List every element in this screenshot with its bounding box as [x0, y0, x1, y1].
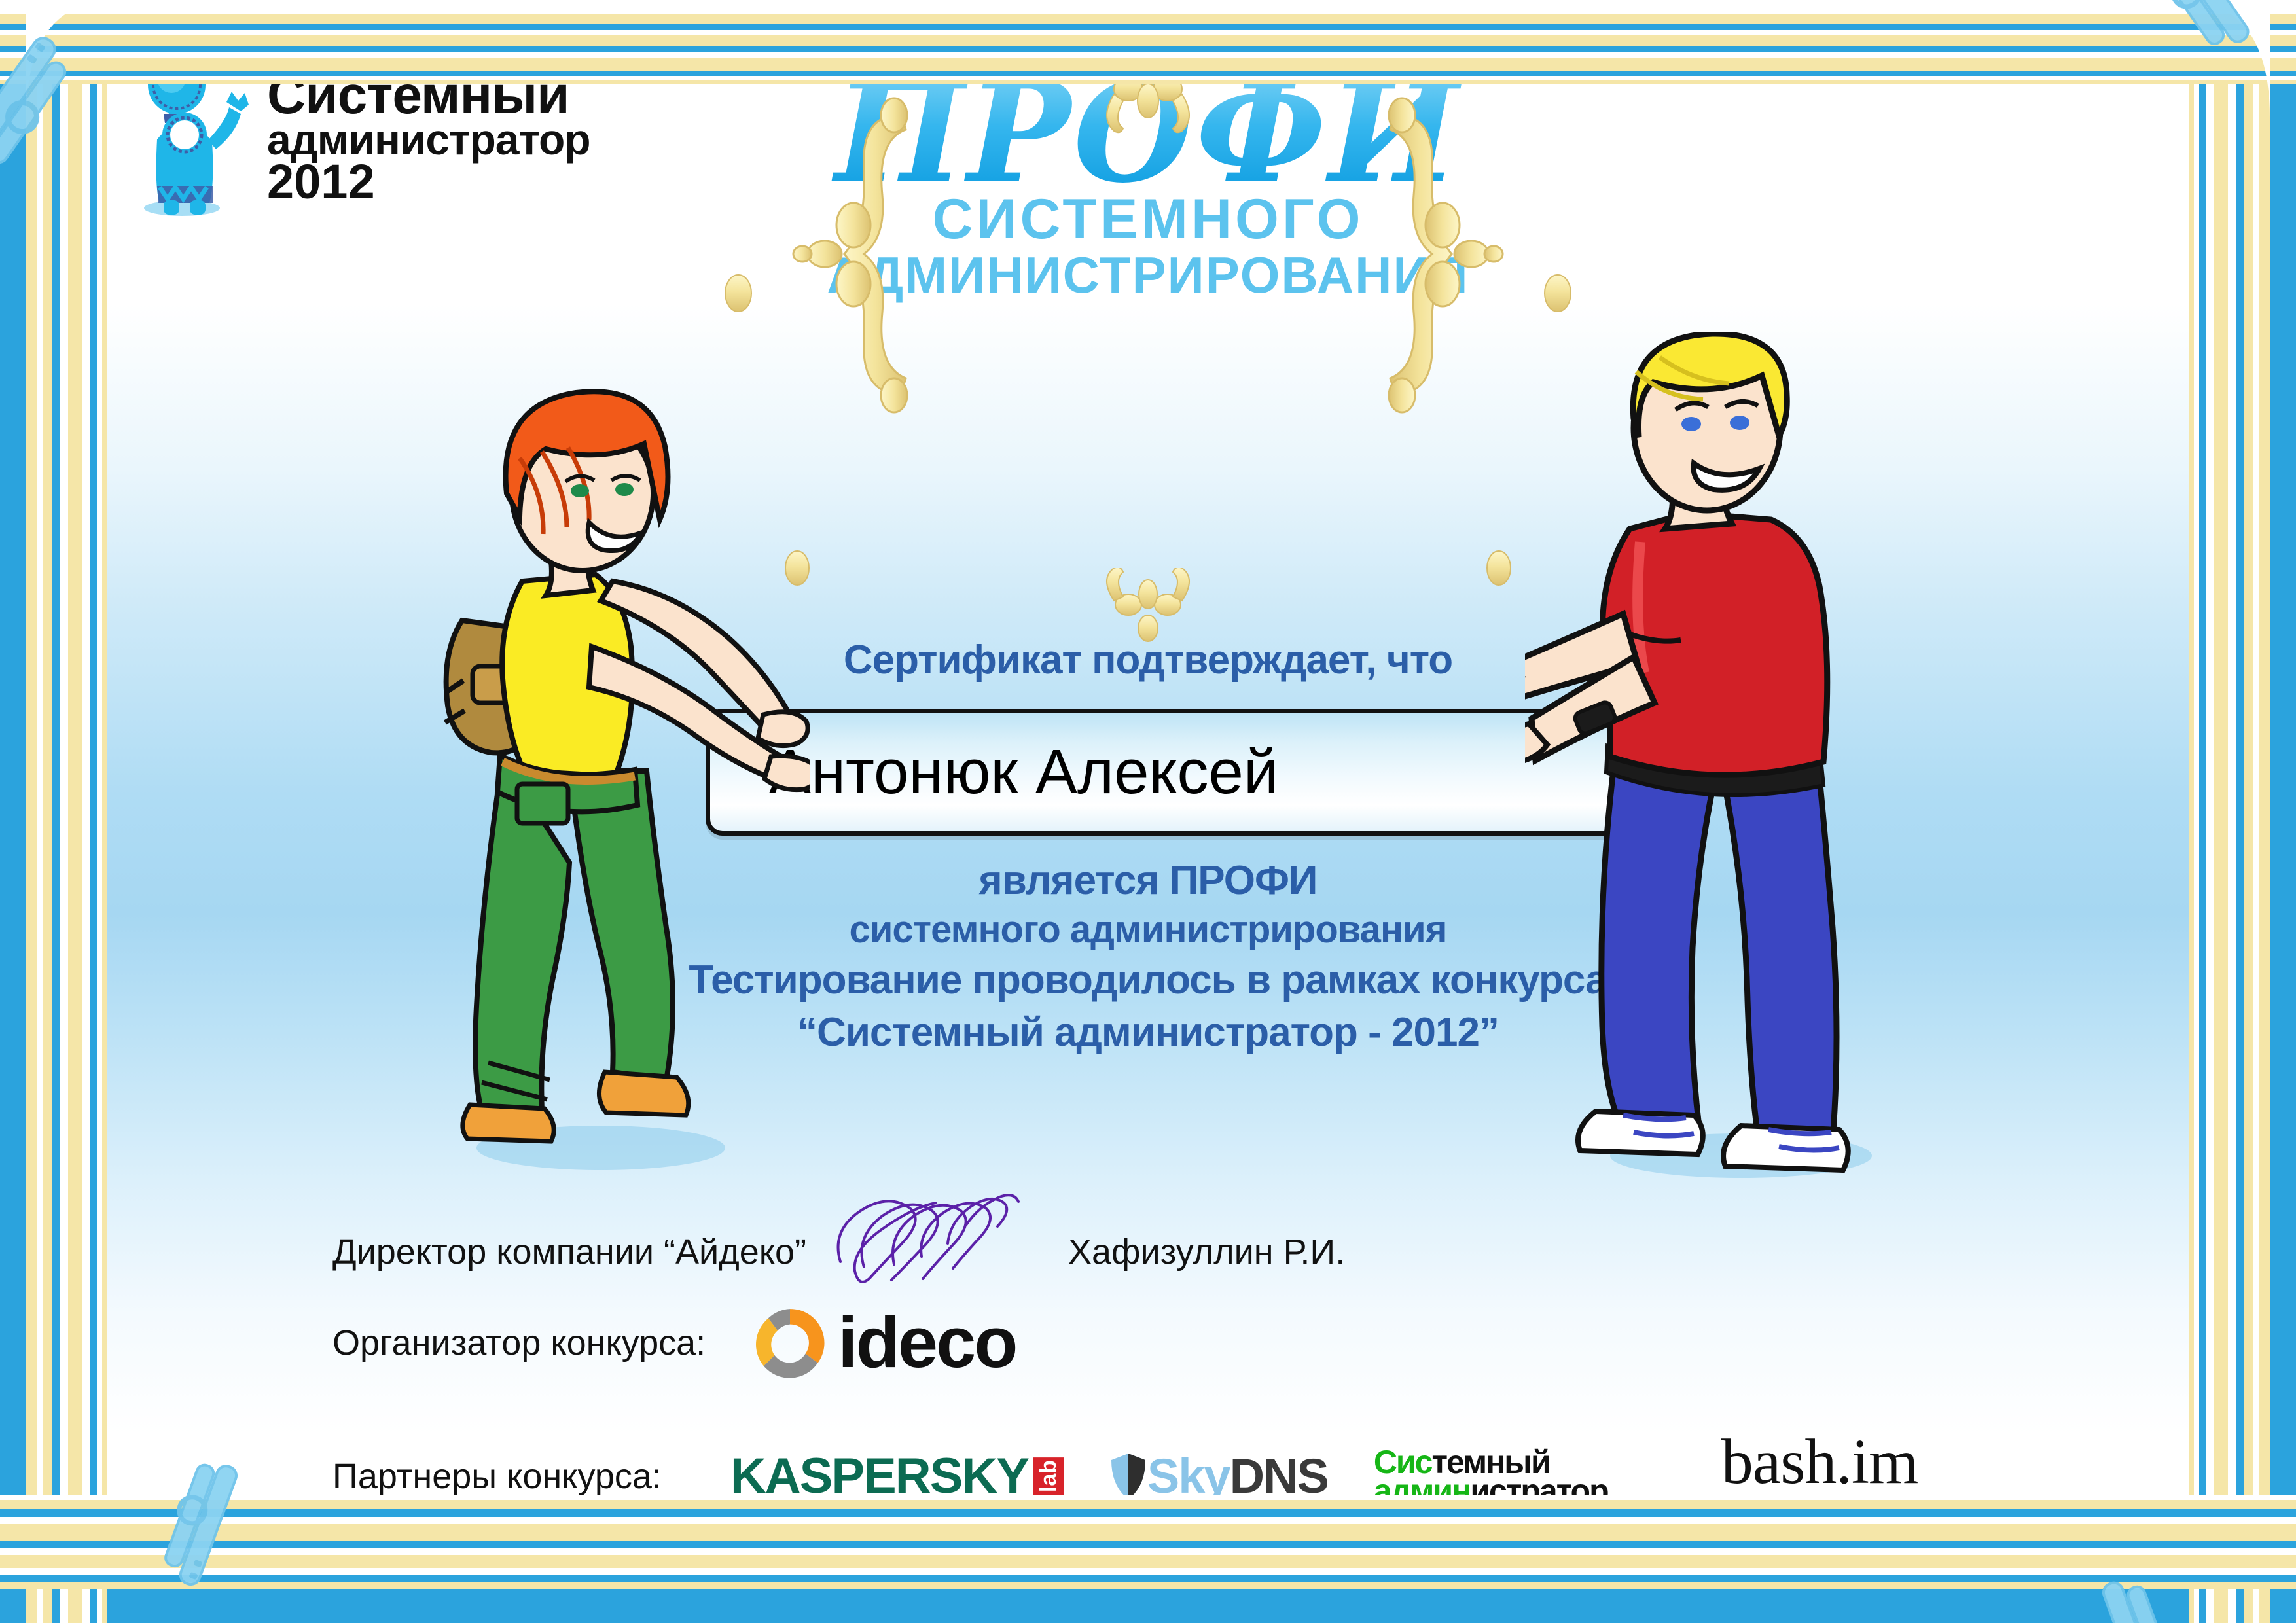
character-man — [1525, 332, 1944, 1183]
partner-sysadmin-magazine-logo: Системный администратор — [1374, 1448, 1608, 1505]
sysadmin-mag-row2-green: админ — [1374, 1472, 1470, 1509]
headline-sub2: АДМИНИСТРИРОВАНИЯ — [77, 249, 2219, 302]
gold-bead-right-icon — [1538, 267, 1577, 319]
gold-bead-left-icon — [719, 267, 758, 319]
organizer-label: Организатор конкурса: — [332, 1323, 706, 1363]
headline-sub1: СИСТЕМНОГО — [77, 190, 2219, 249]
partner-bashim-logo: bash.im ЦИТАТНИК РУНЕТА — [1680, 1432, 1960, 1520]
signature-row: Директор компании “Айдеко” Хафизуллин Р.… — [332, 1203, 1345, 1301]
certificate-page: Системный администратор 2012 ПРОФИ — [0, 0, 2296, 1623]
shield-icon — [1109, 1452, 1147, 1501]
partners-label: Партнеры конкурса: — [332, 1456, 662, 1497]
skydns-dns-text: DNS — [1230, 1452, 1328, 1501]
partner-skydns-logo: Sky DNS — [1109, 1452, 1328, 1501]
sysadmin-mag-row2-black: истратор — [1470, 1472, 1607, 1509]
signer-name: Хафизуллин Р.И. — [1068, 1232, 1345, 1272]
bashim-tagline: ЦИТАТНИК РУНЕТА — [1680, 1495, 1960, 1520]
border-band-bottom — [0, 1589, 2296, 1623]
organizer-row: Организатор конкурса: ideco — [332, 1304, 1016, 1382]
skydns-sky-text: Sky — [1147, 1452, 1230, 1501]
partner-kaspersky-logo: KASPERSKY lab — [730, 1452, 1064, 1501]
kaspersky-wordmark: KASPERSKY — [730, 1452, 1028, 1501]
sysadmin-mag-row2: администратор — [1374, 1476, 1608, 1505]
handwritten-signature-icon — [826, 1188, 1022, 1287]
ornament-top-icon — [1037, 58, 1259, 143]
border-band-left — [0, 0, 26, 1623]
ideco-logo: ideco — [751, 1304, 1016, 1382]
certificate-canvas: Системный администратор 2012 ПРОФИ — [77, 51, 2219, 1538]
ornament-left-icon — [791, 97, 935, 516]
kaspersky-lab-badge: lab — [1033, 1457, 1064, 1495]
partners-row: Партнеры конкурса: KASPERSKY lab Sky DNS… — [332, 1432, 1960, 1520]
border-band-right — [2270, 0, 2296, 1623]
ornament-bottom-icon — [1037, 568, 1259, 647]
gold-bead-lower-right-icon — [1479, 542, 1518, 594]
bashim-wordmark: bash.im — [1680, 1432, 1960, 1493]
ideco-wordmark: ideco — [838, 1307, 1016, 1379]
signature-role-label: Директор компании “Айдеко” — [332, 1232, 806, 1272]
ornament-right-icon — [1361, 97, 1505, 516]
ideco-ring-icon — [751, 1304, 829, 1382]
character-girl — [404, 365, 810, 1177]
